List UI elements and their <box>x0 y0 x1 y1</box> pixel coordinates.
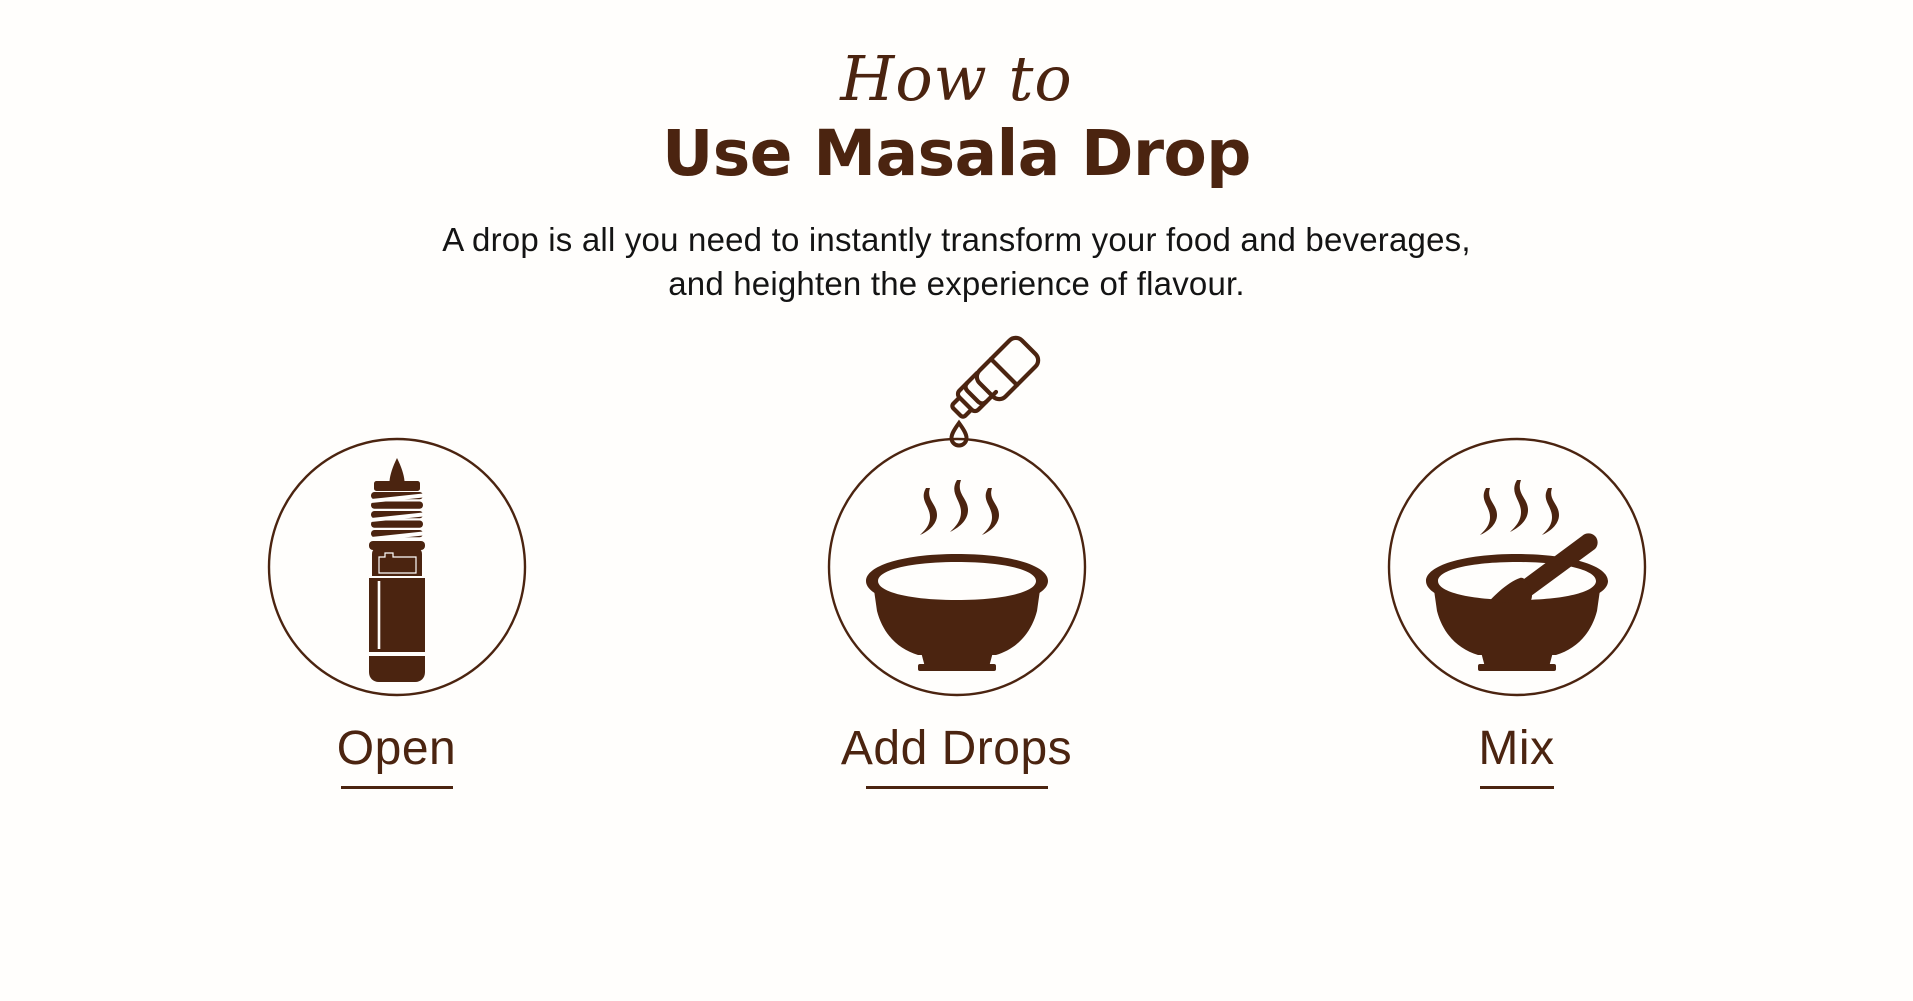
subtitle-line-1: A drop is all you need to instantly tran… <box>0 218 1913 262</box>
how-to-use-infographic: How to Use Masala Drop A drop is all you… <box>0 0 1913 1001</box>
step-mix-label: Mix <box>1478 720 1554 778</box>
step-add-drops: Add Drops <box>677 398 1237 789</box>
tilted-dropper-bottle-icon <box>917 322 1047 452</box>
steps-row: Open <box>0 398 1913 789</box>
step-open-icon-stage <box>247 398 547 698</box>
step-add-drops-label: Add Drops <box>841 720 1072 778</box>
step-mix-icon-stage <box>1367 398 1667 698</box>
page-title: Use Masala Drop <box>0 118 1913 190</box>
step-add-drops-underline <box>866 786 1048 789</box>
step-mix: Mix <box>1237 398 1797 789</box>
dropper-bottle-icon <box>266 436 528 698</box>
step-open: Open <box>117 398 677 789</box>
header-block: How to Use Masala Drop A drop is all you… <box>0 0 1913 306</box>
step-open-underline <box>341 786 453 789</box>
bowl-with-steam-icon <box>826 436 1088 698</box>
step-mix-underline <box>1480 786 1554 789</box>
subtitle: A drop is all you need to instantly tran… <box>0 218 1913 306</box>
script-eyebrow: How to <box>0 44 1913 114</box>
subtitle-line-2: and heighten the experience of flavour. <box>0 262 1913 306</box>
bowl-with-spoon-icon <box>1386 436 1648 698</box>
step-open-label: Open <box>337 720 456 778</box>
step-add-drops-icon-stage <box>807 398 1107 698</box>
